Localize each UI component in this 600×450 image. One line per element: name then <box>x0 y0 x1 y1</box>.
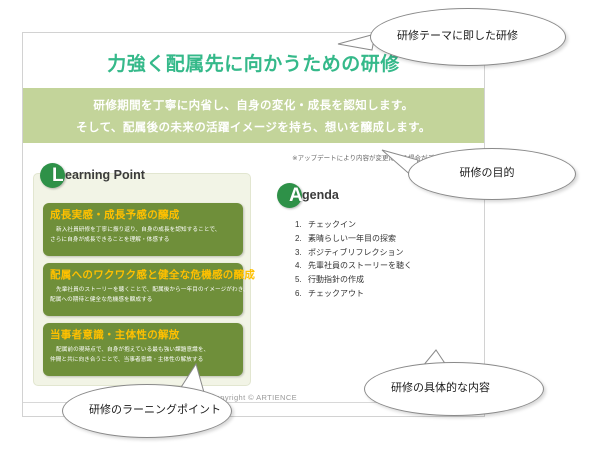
agenda-item-number: 2. <box>295 232 308 246</box>
agenda-header: A genda <box>277 183 339 208</box>
learning-point-box: 成長実感・成長予感の醸成 新入社員研修を丁寧に振り返り、自身の成長を認知すること… <box>43 203 243 256</box>
learning-point-box-line: 配属への期待と健全な危機感を醸成する <box>50 295 236 305</box>
callout-training-purpose: 研修の目的 <box>408 148 576 200</box>
lead-line-1: 研修期間を丁寧に内省し、自身の変化・成長を認知します。 <box>93 97 413 113</box>
agenda-item-number: 6. <box>295 287 308 301</box>
learning-point-box-line: 新入社員研修を丁寧に振り返り、自身の成長を認知することで、 <box>50 225 236 235</box>
agenda-list: 1.チェックイン 2.素晴らしい一年目の探索 3.ポジティブリフレクション 4.… <box>295 218 412 301</box>
agenda-badge-letter: A <box>289 183 303 208</box>
learning-point-badge-letter: L <box>52 163 64 188</box>
learning-point-box-body: 新入社員研修を丁寧に振り返り、自身の成長を認知することで、 さらに自身が成長でき… <box>50 225 236 246</box>
agenda-item-label: チェックイン <box>308 220 356 229</box>
learning-point-box-title: 当事者意識・主体性の解放 <box>50 327 236 342</box>
lead-banner: 研修期間を丁寧に内省し、自身の変化・成長を認知します。 そして、配属後の未来の活… <box>23 88 484 143</box>
learning-point-box: 当事者意識・主体性の解放 配属前の現時点で、自身が抱えている最も強い課題意識を、… <box>43 323 243 376</box>
callout-training-purpose-text: 研修の目的 <box>409 166 575 182</box>
learning-point-box-title: 成長実感・成長予感の醸成 <box>50 207 236 222</box>
learning-point-box-title: 配属へのワクワク感と健全な危機感の醸成 <box>50 267 236 282</box>
callout-training-content-text: 研修の具体的な内容 <box>365 381 500 397</box>
callout-training-theme-text: 研修テーマに即した研修 <box>371 29 528 45</box>
agenda-item-label: ポジティブリフレクション <box>308 248 404 257</box>
learning-point-box-line: さらに自身が成長できることを理解・体感する <box>50 235 236 245</box>
learning-point-box-line: 先輩社員のストーリーを聴くことで、配属後から一年目のイメージがわき、 <box>50 285 236 295</box>
agenda-item-number: 4. <box>295 259 308 273</box>
agenda-item-label: チェックアウト <box>308 289 364 298</box>
lead-line-2: そして、配属後の未来の活躍イメージを持ち、想いを醸成します。 <box>76 119 431 135</box>
agenda-item-label: 行動指針の作成 <box>308 275 364 284</box>
callout-training-content: 研修の具体的な内容 <box>364 362 544 416</box>
agenda-item: 1.チェックイン <box>295 218 412 232</box>
learning-point-badge-label: earning Point <box>65 163 145 188</box>
agenda-item-number: 5. <box>295 273 308 287</box>
learning-point-box-line: 配属前の現時点で、自身が抱えている最も強い課題意識を、 <box>50 345 236 355</box>
agenda-item-label: 先輩社員のストーリーを聴く <box>308 261 412 270</box>
agenda-item: 4.先輩社員のストーリーを聴く <box>295 259 412 273</box>
agenda-item-number: 3. <box>295 246 308 260</box>
learning-point-header: L earning Point <box>40 163 145 188</box>
slide-canvas: 力強く配属先に向かうための研修 研修期間を丁寧に内省し、自身の変化・成長を認知し… <box>22 32 485 417</box>
learning-point-panel: L earning Point 成長実感・成長予感の醸成 新入社員研修を丁寧に振… <box>33 173 251 386</box>
learning-point-box-body: 先輩社員のストーリーを聴くことで、配属後から一年目のイメージがわき、 配属への期… <box>50 285 236 306</box>
agenda-badge-label: genda <box>302 183 339 208</box>
agenda-item-number: 1. <box>295 218 308 232</box>
learning-point-box-body: 配属前の現時点で、自身が抱えている最も強い課題意識を、 仲間と共に向き合うことで… <box>50 345 236 366</box>
callout-learning-point-text: 研修のラーニングポイント <box>63 403 231 419</box>
agenda-item: 2.素晴らしい一年目の探索 <box>295 232 412 246</box>
callout-learning-point: 研修のラーニングポイント <box>62 384 232 438</box>
agenda-item: 3.ポジティブリフレクション <box>295 246 412 260</box>
agenda-item: 6.チェックアウト <box>295 287 412 301</box>
learning-point-box-line: 仲間と共に向き合うことで、当事者意識・主体性の解放する <box>50 355 236 365</box>
callout-training-theme: 研修テーマに即した研修 <box>370 8 566 66</box>
agenda-item-label: 素晴らしい一年目の探索 <box>308 234 396 243</box>
agenda-item: 5.行動指針の作成 <box>295 273 412 287</box>
learning-point-box: 配属へのワクワク感と健全な危機感の醸成 先輩社員のストーリーを聴くことで、配属後… <box>43 263 243 316</box>
